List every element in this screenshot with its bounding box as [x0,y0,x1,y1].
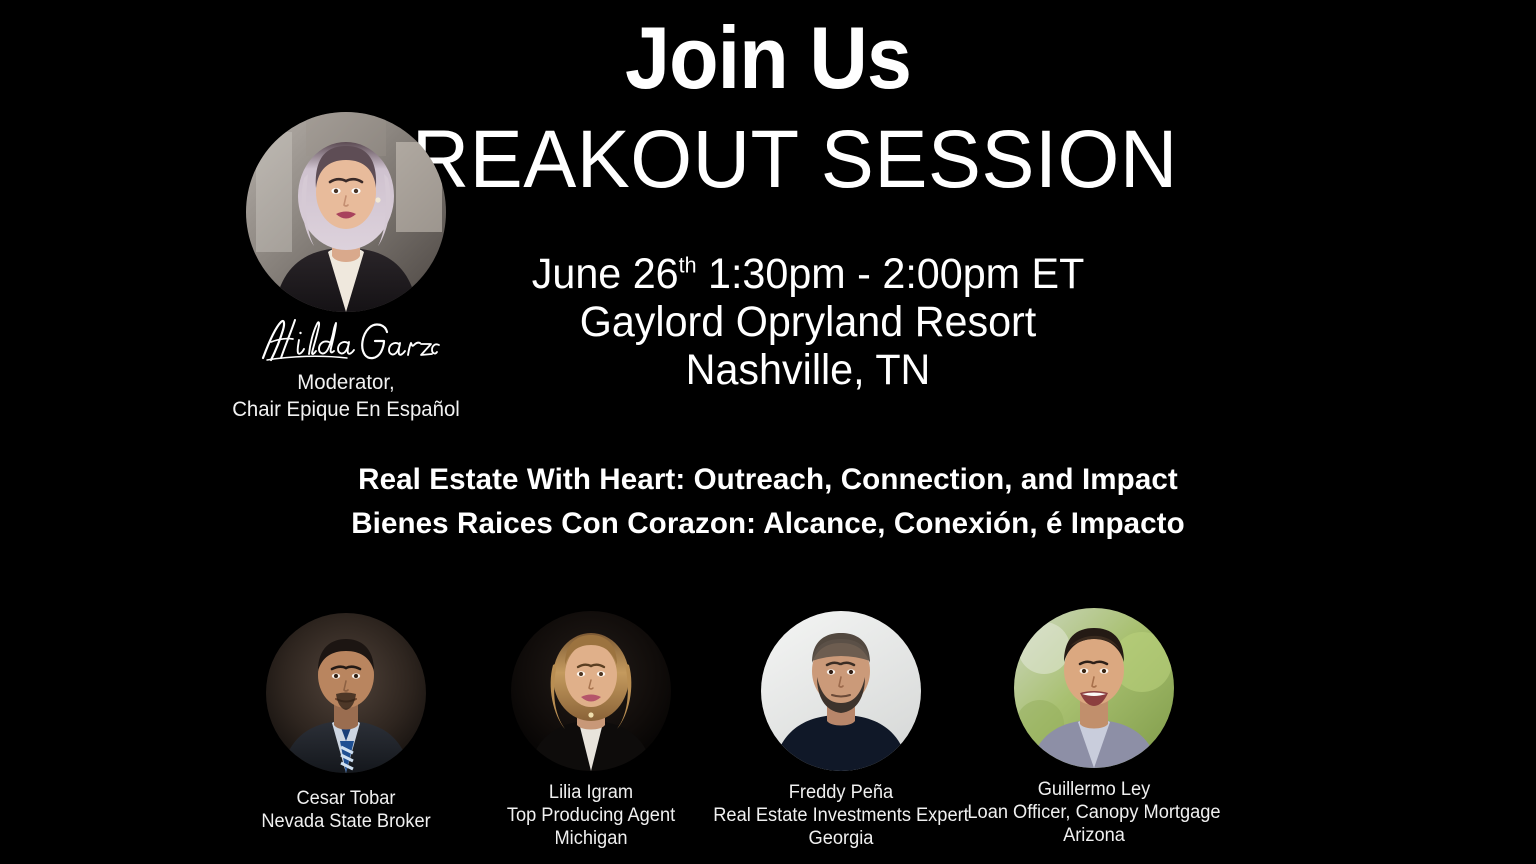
panelist-location: Arizona [950,824,1238,847]
event-date-ordinal: th [679,253,697,278]
headline-join-us: Join Us [61,14,1474,102]
moderator-block: Moderator, Chair Epique En Español [196,112,496,424]
panelist-avatar-freddy-pena [761,611,921,771]
moderator-role-line1: Moderator, [201,370,492,397]
slide-canvas: Join Us BREAKOUT SESSION June 26th 1:30p… [0,0,1536,864]
panelist-name: Guillermo Ley [950,778,1238,801]
panelist-avatar-lilia-igram [511,611,671,771]
panelist-role: Real Estate Investments Expert [697,804,985,827]
panelist-avatar-guillermo-ley [1014,608,1174,768]
event-time-range: 1:30pm - 2:00pm ET [697,250,1085,298]
session-title-block: Real Estate With Heart: Outreach, Connec… [0,458,1536,546]
panelist-info-freddy-pena: Freddy Peña Real Estate Investments Expe… [697,781,985,851]
panelist-info-guillermo-ley: Guillermo Ley Loan Officer, Canopy Mortg… [950,778,1238,848]
panelist-guillermo-ley: Guillermo Ley Loan Officer, Canopy Mortg… [944,608,1244,848]
moderator-signature [196,314,496,366]
panelist-name: Freddy Peña [697,781,985,804]
moderator-photo-wrap [246,112,446,312]
panelist-role: Loan Officer, Canopy Mortgage [950,801,1238,824]
moderator-role-line2: Chair Epique En Español [201,397,492,424]
panelist-avatar-cesar-tobar [266,613,426,773]
moderator-avatar [246,112,446,312]
event-date: June 26 [532,250,679,298]
session-title-english: Real Estate With Heart: Outreach, Connec… [12,458,1525,502]
moderator-role: Moderator, Chair Epique En Español [201,370,492,424]
panelists-row: Cesar Tobar Nevada State Broker [0,600,1536,864]
session-title-spanish: Bienes Raices Con Corazon: Alcance, Cone… [12,502,1525,546]
panelist-location: Georgia [697,827,985,850]
